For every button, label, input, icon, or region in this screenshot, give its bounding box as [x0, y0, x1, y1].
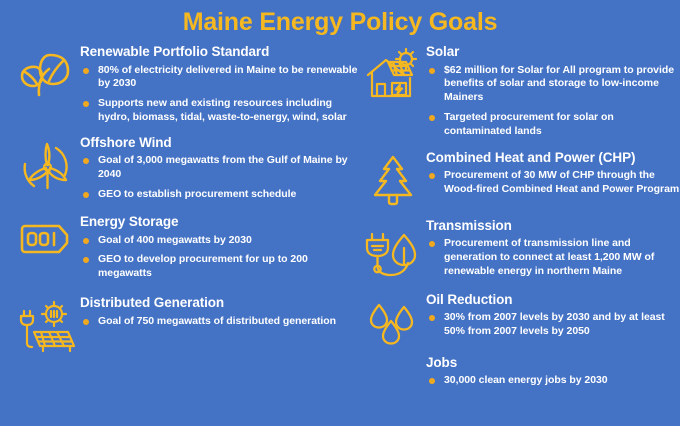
pine-tree-icon: [360, 150, 426, 206]
bullet-dot-icon: [429, 68, 435, 74]
page-title: Maine Energy Policy Goals: [0, 8, 680, 37]
section-body: Renewable Portfolio Standard 80% of elec…: [80, 44, 358, 125]
section-heading: Offshore Wind: [80, 135, 358, 151]
bullet-text: Goal of 3,000 megawatts from the Gulf of…: [98, 154, 348, 180]
section-combined-heat-and-power: Combined Heat and Power (CHP) Procuremen…: [360, 150, 680, 206]
list-item: Procurement of 30 MW of CHP through the …: [426, 169, 680, 197]
content-columns: Renewable Portfolio Standard 80% of elec…: [0, 44, 680, 395]
section-jobs: Jobs 30,000 clean energy jobs by 2030: [360, 355, 680, 388]
bullet-dot-icon: [429, 315, 435, 321]
section-heading: Jobs: [426, 355, 680, 371]
bullet-dot-icon: [83, 68, 89, 74]
bullet-dot-icon: [83, 319, 89, 325]
bullet-dot-icon: [429, 173, 435, 179]
section-offshore-wind: Offshore Wind Goal of 3,000 megawatts fr…: [14, 135, 358, 202]
oil-droplets-icon: [360, 292, 426, 348]
bullet-text: 80% of electricity delivered in Maine to…: [98, 64, 357, 90]
section-body: Transmission Procurement of transmission…: [426, 218, 680, 279]
list-item: Goal of 750 megawatts of distributed gen…: [80, 315, 358, 329]
bullet-list: Goal of 3,000 megawatts from the Gulf of…: [80, 154, 358, 202]
bullet-text: Goal of 750 megawatts of distributed gen…: [98, 315, 336, 327]
bullet-text: Procurement of 30 MW of CHP through the …: [444, 169, 679, 195]
list-item: 80% of electricity delivered in Maine to…: [80, 64, 358, 92]
battery-icon: [14, 214, 80, 258]
bullet-text: 30,000 clean energy jobs by 2030: [444, 374, 608, 386]
right-column: Solar $62 million for Solar for All prog…: [358, 44, 680, 395]
bullet-text: Targeted procurement for solar on contam…: [444, 111, 614, 137]
list-item: Supports new and existing resources incl…: [80, 97, 358, 125]
section-solar: Solar $62 million for Solar for All prog…: [360, 44, 680, 139]
bullet-dot-icon: [429, 115, 435, 121]
list-item: $62 million for Solar for All program to…: [426, 64, 680, 106]
bullet-text: $62 million for Solar for All program to…: [444, 64, 674, 104]
bullet-dot-icon: [83, 192, 89, 198]
bullet-dot-icon: [429, 378, 435, 384]
section-heading: Oil Reduction: [426, 292, 680, 308]
bullet-list: 30% from 2007 levels by 2030 and by at l…: [426, 311, 680, 339]
bullet-list: $62 million for Solar for All program to…: [426, 64, 680, 139]
section-energy-storage: Energy Storage Goal of 400 megawatts by …: [14, 214, 358, 281]
section-body: Distributed Generation Goal of 750 megaw…: [80, 295, 358, 328]
list-item: Goal of 3,000 megawatts from the Gulf of…: [80, 154, 358, 182]
bullet-list: 30,000 clean energy jobs by 2030: [426, 374, 680, 388]
section-heading: Distributed Generation: [80, 295, 358, 311]
bullet-dot-icon: [83, 101, 89, 107]
plug-leaf-icon: [360, 218, 426, 280]
section-renewable-portfolio-standard: Renewable Portfolio Standard 80% of elec…: [14, 44, 358, 125]
left-column: Renewable Portfolio Standard 80% of elec…: [0, 44, 358, 360]
section-heading: Solar: [426, 44, 680, 60]
list-item: Procurement of transmission line and gen…: [426, 237, 680, 279]
jobs-icon-placeholder: [360, 355, 426, 359]
bullet-list: Procurement of 30 MW of CHP through the …: [426, 169, 680, 197]
section-transmission: Transmission Procurement of transmission…: [360, 218, 680, 280]
list-item: Goal of 400 megawatts by 2030: [80, 234, 358, 248]
leaf-icon: [14, 44, 80, 98]
section-body: Oil Reduction 30% from 2007 levels by 20…: [426, 292, 680, 339]
section-distributed-generation: Distributed Generation Goal of 750 megaw…: [14, 295, 358, 353]
bullet-text: GEO to develop procurement for up to 200…: [98, 253, 308, 279]
bullet-list: 80% of electricity delivered in Maine to…: [80, 64, 358, 125]
section-heading: Combined Heat and Power (CHP): [426, 150, 680, 166]
section-body: Solar $62 million for Solar for All prog…: [426, 44, 680, 139]
bullet-list: Procurement of transmission line and gen…: [426, 237, 680, 279]
section-heading: Renewable Portfolio Standard: [80, 44, 358, 60]
bullet-text: Supports new and existing resources incl…: [98, 97, 347, 123]
section-oil-reduction: Oil Reduction 30% from 2007 levels by 20…: [360, 292, 680, 348]
list-item: GEO to establish procurement schedule: [80, 188, 358, 202]
wind-turbine-icon: [14, 135, 80, 193]
infographic-poster: Maine Energy Policy Goals: [0, 0, 680, 426]
list-item: 30% from 2007 levels by 2030 and by at l…: [426, 311, 680, 339]
solar-panel-icon: [14, 295, 80, 353]
section-body: Combined Heat and Power (CHP) Procuremen…: [426, 150, 680, 197]
bullet-list: Goal of 400 megawatts by 2030 GEO to dev…: [80, 234, 358, 282]
bullet-list: Goal of 750 megawatts of distributed gen…: [80, 315, 358, 329]
section-body: Jobs 30,000 clean energy jobs by 2030: [426, 355, 680, 388]
bullet-dot-icon: [83, 158, 89, 164]
bullet-text: 30% from 2007 levels by 2030 and by at l…: [444, 311, 665, 337]
section-heading: Transmission: [426, 218, 680, 234]
section-heading: Energy Storage: [80, 214, 358, 230]
bullet-dot-icon: [83, 238, 89, 244]
solar-house-icon: [360, 44, 426, 100]
list-item: Targeted procurement for solar on contam…: [426, 111, 680, 139]
section-body: Energy Storage Goal of 400 megawatts by …: [80, 214, 358, 281]
section-body: Offshore Wind Goal of 3,000 megawatts fr…: [80, 135, 358, 202]
list-item: 30,000 clean energy jobs by 2030: [426, 374, 680, 388]
bullet-text: GEO to establish procurement schedule: [98, 188, 296, 200]
bullet-text: Goal of 400 megawatts by 2030: [98, 234, 252, 246]
bullet-text: Procurement of transmission line and gen…: [444, 237, 654, 277]
bullet-dot-icon: [83, 257, 89, 263]
list-item: GEO to develop procurement for up to 200…: [80, 253, 358, 281]
bullet-dot-icon: [429, 241, 435, 247]
